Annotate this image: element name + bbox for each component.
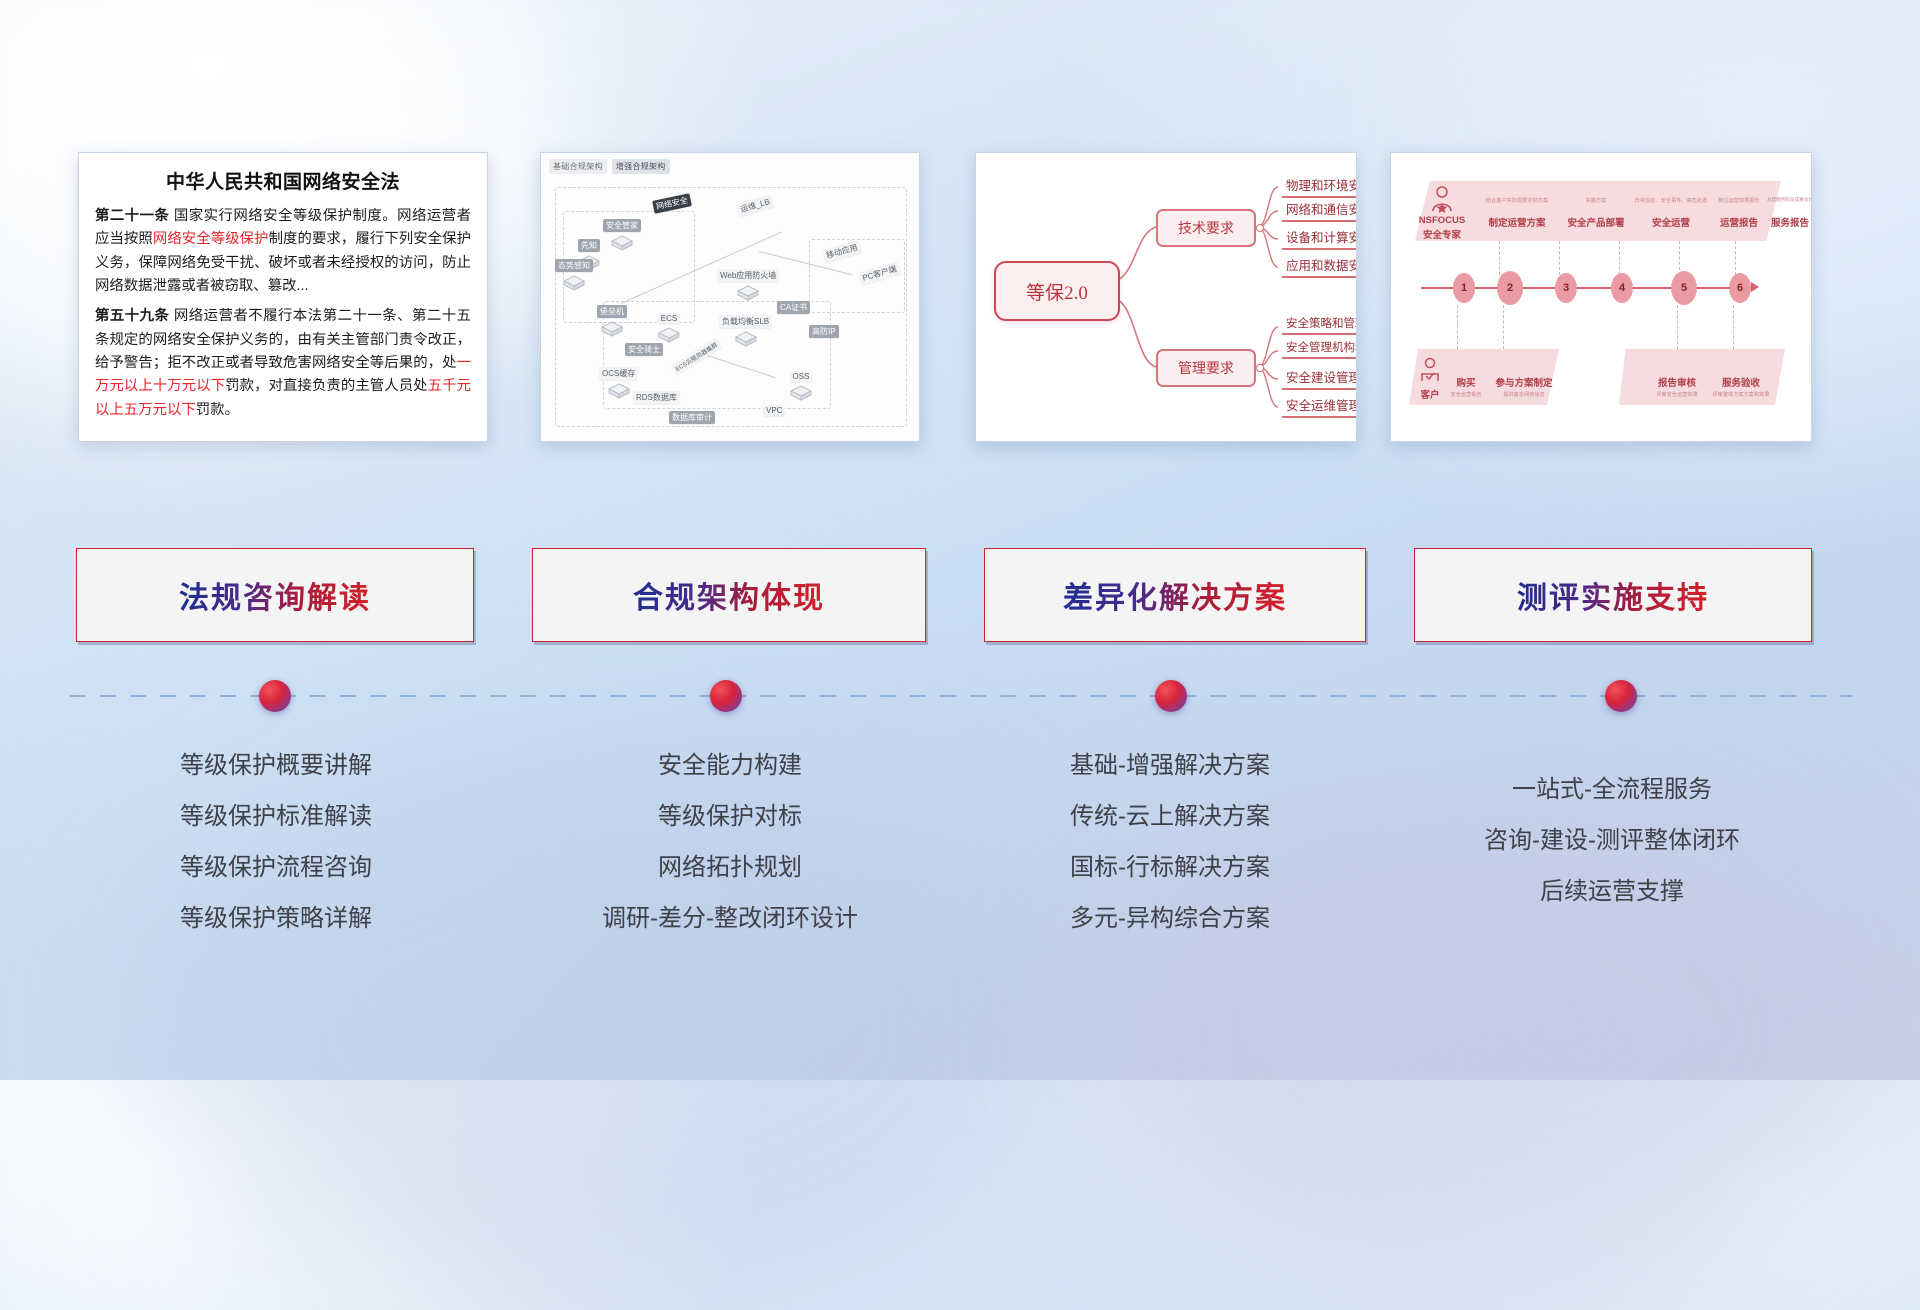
node-anti-ddos-ip: 高防IP (809, 325, 839, 338)
law-article-21-highlight: 网络安全等级保护 (153, 231, 269, 247)
nsfocus-step-node-3[interactable]: 3 (1555, 273, 1577, 303)
node-label-vpc: VPC (763, 405, 785, 416)
nsfocus-leader-2 (1559, 241, 1561, 275)
timeline-dot-1[interactable] (259, 680, 291, 712)
law-article-59: 第五十九条 网络运营者不履行本法第二十一条、第二十五条规定的网络安全保护义务的，… (95, 305, 471, 422)
law-title: 中华人民共和国网络安全法 (95, 167, 471, 194)
mindmap-collapse-dot-management[interactable] (1256, 364, 1264, 372)
law-article-59-end: 罚款。 (196, 402, 239, 418)
detail-list-differentiated-solution: 基础-增强解决方案 传统-云上解决方案 国标-行标解决方案 多元-异构综合方案 (960, 740, 1380, 944)
nsfocus-bottom-sub-2: 提供基本网络信息 (1491, 391, 1557, 398)
node-label-ecs: ECS (658, 313, 680, 324)
cube-icon (607, 382, 631, 400)
cube-icon (610, 234, 634, 252)
list-item: 后续运营支撑 (1390, 866, 1834, 917)
nsfocus-top-label-1: 制定运营方案 (1477, 215, 1557, 229)
detail-list-regulation-consulting: 等级保护概要讲解 等级保护标准解读 等级保护流程咨询 等级保护策略详解 (66, 740, 486, 944)
mindmap-root-node[interactable]: 等保2.0 (994, 261, 1120, 321)
category-headers-row: 法规咨询解读 合规架构体现 差异化解决方案 测评实施支持 (0, 548, 1920, 644)
node-label-security-steward: 安全管家 (603, 219, 641, 232)
node-rds-database: RDS数据库 (633, 391, 680, 404)
nsfocus-bottom-label-3: 报告审核 (1649, 375, 1705, 389)
mindmap-leaf-network-security[interactable]: 网络和通信安全 (1282, 199, 1357, 222)
nsfocus-top-sub-2: 实施方案 (1559, 197, 1633, 204)
nsfocus-top-label-2: 安全产品部署 (1557, 215, 1635, 229)
list-item: 调研-差分-整改闭环设计 (520, 893, 940, 944)
cube-icon (789, 384, 813, 402)
cloud-architecture-diagram: 基础合规架构 增强合规架构 网络安全 安全管家 先知 (541, 153, 919, 441)
node-label-xianzhi: 先知 (578, 239, 600, 252)
category-label-compliance-architecture: 合规架构体现 (633, 573, 825, 617)
nsfocus-bottom-sub-3: 评审安全运营效果 (1643, 391, 1711, 398)
nsfocus-leader-lower-2 (1503, 305, 1505, 349)
nsfocus-leader-lower-4 (1733, 305, 1735, 349)
mindmap-leaf-security-org[interactable]: 安全管理机构和人员 (1282, 339, 1357, 359)
list-item: 等级保护标准解读 (66, 791, 486, 842)
nsfocus-expert-line2: 安全专家 (1409, 227, 1475, 241)
node-database-audit: 数据库审计 (669, 411, 715, 424)
mindmap-leaf-device-security[interactable]: 设备和计算安全 (1282, 227, 1357, 250)
list-item: 等级保护策略详解 (66, 893, 486, 944)
architecture-tabs: 基础合规架构 增强合规架构 (549, 159, 670, 174)
category-header-compliance-architecture[interactable]: 合规架构体现 (532, 548, 926, 642)
law-article-21: 第二十一条 国家实行网络安全等级保护制度。网络运营者应当按照网络安全等级保护制度… (95, 205, 471, 298)
mindmap-leaf-operation-mgmt[interactable]: 安全运维管理 (1282, 395, 1357, 418)
nsfocus-bottom-sub-4: 评审整体方案方案和效果 (1703, 391, 1779, 398)
nsfocus-timeline-arrow-icon (1751, 282, 1759, 292)
nsfocus-step-node-6[interactable]: 6 (1729, 273, 1751, 303)
nsfocus-leader-5 (1735, 241, 1737, 275)
cube-icon (600, 320, 624, 338)
mindmap-leaf-application-security[interactable]: 应用和数据安全 (1282, 255, 1357, 278)
timeline-dot-2[interactable] (710, 680, 742, 712)
nsfocus-bottom-label-4: 服务验收 (1713, 375, 1769, 389)
mindmap-leaf-physical-security[interactable]: 物理和环境安全 (1282, 175, 1357, 198)
customer-person-icon (1417, 357, 1443, 385)
nsfocus-top-sub-1: 结合客户实际需要定制方案 (1477, 197, 1557, 204)
mindmap-branch-technical[interactable]: 技术要求 (1156, 209, 1256, 247)
timeline-dot-3[interactable] (1155, 680, 1187, 712)
list-item: 等级保护对标 (520, 791, 940, 842)
law-article-59-label: 第五十九条 (95, 308, 169, 324)
category-header-differentiated-solution[interactable]: 差异化解决方案 (984, 548, 1366, 642)
node-label-ocs-cache: OCS缓存 (599, 367, 638, 380)
node-ca-certificate: CA证书 (777, 301, 810, 314)
list-item: 国标-行标解决方案 (960, 842, 1380, 893)
node-waf: Web应用防火墙 (717, 269, 779, 302)
list-item: 安全能力构建 (520, 740, 940, 791)
nsfocus-top-sub-4: 到位运营效果报告 (1701, 197, 1777, 204)
nsfocus-step-node-5[interactable]: 5 (1671, 271, 1697, 305)
nsfocus-top-label-4: 运营报告 (1703, 215, 1775, 229)
node-label-bastion-host: 堡垒机 (597, 305, 627, 318)
timeline-dot-4[interactable] (1605, 680, 1637, 712)
node-vpc: VPC (763, 405, 785, 416)
category-label-differentiated-solution: 差异化解决方案 (1063, 573, 1287, 617)
tab-enhanced-architecture[interactable]: 增强合规架构 (612, 159, 670, 174)
nsfocus-bottom-label-1: 购买 (1445, 375, 1487, 389)
nsfocus-leader-lower-1 (1457, 305, 1459, 349)
mindmap-collapse-dot-technical[interactable] (1256, 224, 1264, 232)
nsfocus-leader-lower-3 (1677, 305, 1679, 349)
list-item: 一站式-全流程服务 (1390, 764, 1834, 815)
nsfocus-bottom-sub-1: 安全运营报告 (1439, 391, 1493, 398)
category-label-evaluation-support: 测评实施支持 (1517, 573, 1709, 617)
list-item: 传统-云上解决方案 (960, 791, 1380, 842)
nsfocus-top-label-3: 安全运营 (1635, 215, 1707, 229)
nsfocus-leader-4 (1679, 241, 1681, 275)
node-security-knight: 安全骑士 (625, 343, 663, 356)
list-item: 咨询-建设-测评整体闭环 (1390, 815, 1834, 866)
cube-icon (562, 274, 586, 292)
list-item: 基础-增强解决方案 (960, 740, 1380, 791)
detail-list-evaluation-support: 一站式-全流程服务 咨询-建设-测评整体闭环 后续运营支撑 (1390, 764, 1834, 917)
node-security-steward: 安全管家 (603, 219, 641, 252)
cube-icon (657, 326, 681, 344)
node-oss: OSS (789, 371, 813, 402)
node-label-rds-database: RDS数据库 (633, 391, 680, 404)
category-header-regulation-consulting[interactable]: 法规咨询解读 (76, 548, 474, 642)
card-mindmap-dengbao[interactable]: 等保2.0 技术要求 物理和环境安全 网络和通信安全 设备和计算安全 应用和数据… (975, 152, 1357, 442)
node-bastion-host: 堡垒机 (597, 305, 627, 338)
node-label-security-knight: 安全骑士 (625, 343, 663, 356)
node-label-database-audit: 数据库审计 (669, 411, 715, 424)
preview-cards-row: 中华人民共和国网络安全法 第二十一条 国家实行网络安全等级保护制度。网络运营者应… (0, 152, 1920, 442)
nsfocus-leader-1 (1499, 241, 1501, 275)
node-ecs: ECS (657, 313, 681, 344)
category-header-evaluation-support[interactable]: 测评实施支持 (1414, 548, 1812, 642)
cube-icon (736, 284, 760, 302)
list-item: 网络拓扑规划 (520, 842, 940, 893)
tab-basic-architecture[interactable]: 基础合规架构 (549, 159, 607, 174)
node-label-anti-ddos-ip: 高防IP (809, 325, 839, 338)
node-situational-awareness: 态势感知 (555, 259, 593, 292)
nsfocus-step-node-2[interactable]: 2 (1497, 271, 1523, 305)
node-label-ca-certificate: CA证书 (777, 301, 810, 314)
law-document: 中华人民共和国网络安全法 第二十一条 国家实行网络安全等级保护制度。网络运营者应… (79, 153, 487, 441)
nsfocus-timeline-diagram: NSFOCUS 安全专家 结合客户实际需要定制方案 制定运营方案 实施方案 安全… (1391, 153, 1811, 441)
nsfocus-bottom-label-2: 参与方案制定 (1491, 375, 1557, 389)
list-item: 等级保护概要讲解 (66, 740, 486, 791)
node-slb: 负载均衡SLB (719, 315, 772, 348)
nsfocus-expert-line1: NSFOCUS (1409, 215, 1475, 226)
mindmap-leaf-construction-mgmt[interactable]: 安全建设管理 (1282, 367, 1357, 390)
node-label-situational-awareness: 态势感知 (555, 259, 593, 272)
mindmap-leaf-security-policy[interactable]: 安全策略和管理制度 (1282, 315, 1357, 335)
node-label-waf: Web应用防火墙 (717, 269, 779, 282)
cube-icon (734, 330, 758, 348)
nsfocus-top-sub-5: 总结服务阶段成果总体运营效果 (1767, 197, 1811, 203)
slide-stage: 中华人民共和国网络安全法 第二十一条 国家实行网络安全等级保护制度。网络运营者应… (0, 0, 1920, 1080)
law-article-59-mid: 罚款，对直接负责的主管人员处 (225, 378, 427, 394)
detail-list-compliance-architecture: 安全能力构建 等级保护对标 网络拓扑规划 调研-差分-整改闭环设计 (520, 740, 940, 944)
timeline-dashed-line (70, 695, 1852, 697)
category-label-regulation-consulting: 法规咨询解读 (179, 573, 371, 617)
mindmap-branch-management[interactable]: 管理要求 (1156, 349, 1256, 387)
nsfocus-step-node-1[interactable]: 1 (1453, 273, 1475, 303)
nsfocus-step-node-4[interactable]: 4 (1611, 273, 1633, 303)
detail-lists-row: 等级保护概要讲解 等级保护标准解读 等级保护流程咨询 等级保护策略详解 安全能力… (0, 740, 1920, 980)
nsfocus-top-label-5: 服务报告 (1769, 215, 1811, 229)
mindmap-diagram: 等保2.0 技术要求 物理和环境安全 网络和通信安全 设备和计算安全 应用和数据… (976, 153, 1356, 441)
list-item: 多元-异构综合方案 (960, 893, 1380, 944)
law-article-21-label: 第二十一条 (95, 208, 169, 224)
expert-person-icon (1427, 185, 1457, 215)
node-label-slb: 负载均衡SLB (719, 315, 772, 328)
card-nsfocus-service-timeline[interactable]: NSFOCUS 安全专家 结合客户实际需要定制方案 制定运营方案 实施方案 安全… (1390, 152, 1812, 442)
card-compliance-architecture[interactable]: 基础合规架构 增强合规架构 网络安全 安全管家 先知 (540, 152, 920, 442)
list-item: 等级保护流程咨询 (66, 842, 486, 893)
node-label-oss: OSS (790, 371, 813, 382)
nsfocus-leader-3 (1619, 241, 1621, 275)
card-cybersecurity-law[interactable]: 中华人民共和国网络安全法 第二十一条 国家实行网络安全等级保护制度。网络运营者应… (78, 152, 488, 442)
